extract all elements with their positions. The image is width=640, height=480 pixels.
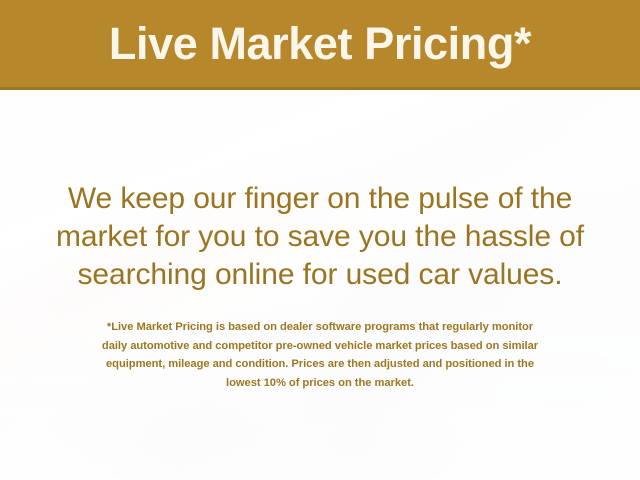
headline-line-3: searching online for used car values. bbox=[20, 256, 620, 294]
disclaimer-line-2: daily automotive and competitor pre-owne… bbox=[25, 337, 615, 356]
live-market-pricing-banner: Live Market Pricing* We keep our finger … bbox=[0, 0, 640, 480]
headline-text: We keep our finger on the pulse of the m… bbox=[20, 180, 620, 294]
disclaimer-line-1: *Live Market Pricing is based on dealer … bbox=[25, 318, 615, 337]
banner-content: We keep our finger on the pulse of the m… bbox=[0, 90, 640, 480]
headline-line-1: We keep our finger on the pulse of the bbox=[20, 180, 620, 218]
page-title: Live Market Pricing* bbox=[0, 0, 640, 87]
disclaimer-text: *Live Market Pricing is based on dealer … bbox=[25, 318, 615, 392]
header-band: Live Market Pricing* bbox=[0, 0, 640, 90]
headline-line-2: market for you to save you the hassle of bbox=[20, 218, 620, 256]
disclaimer-line-3: equipment, mileage and condition. Prices… bbox=[25, 355, 615, 374]
disclaimer-line-4: lowest 10% of prices on the market. bbox=[25, 374, 615, 393]
